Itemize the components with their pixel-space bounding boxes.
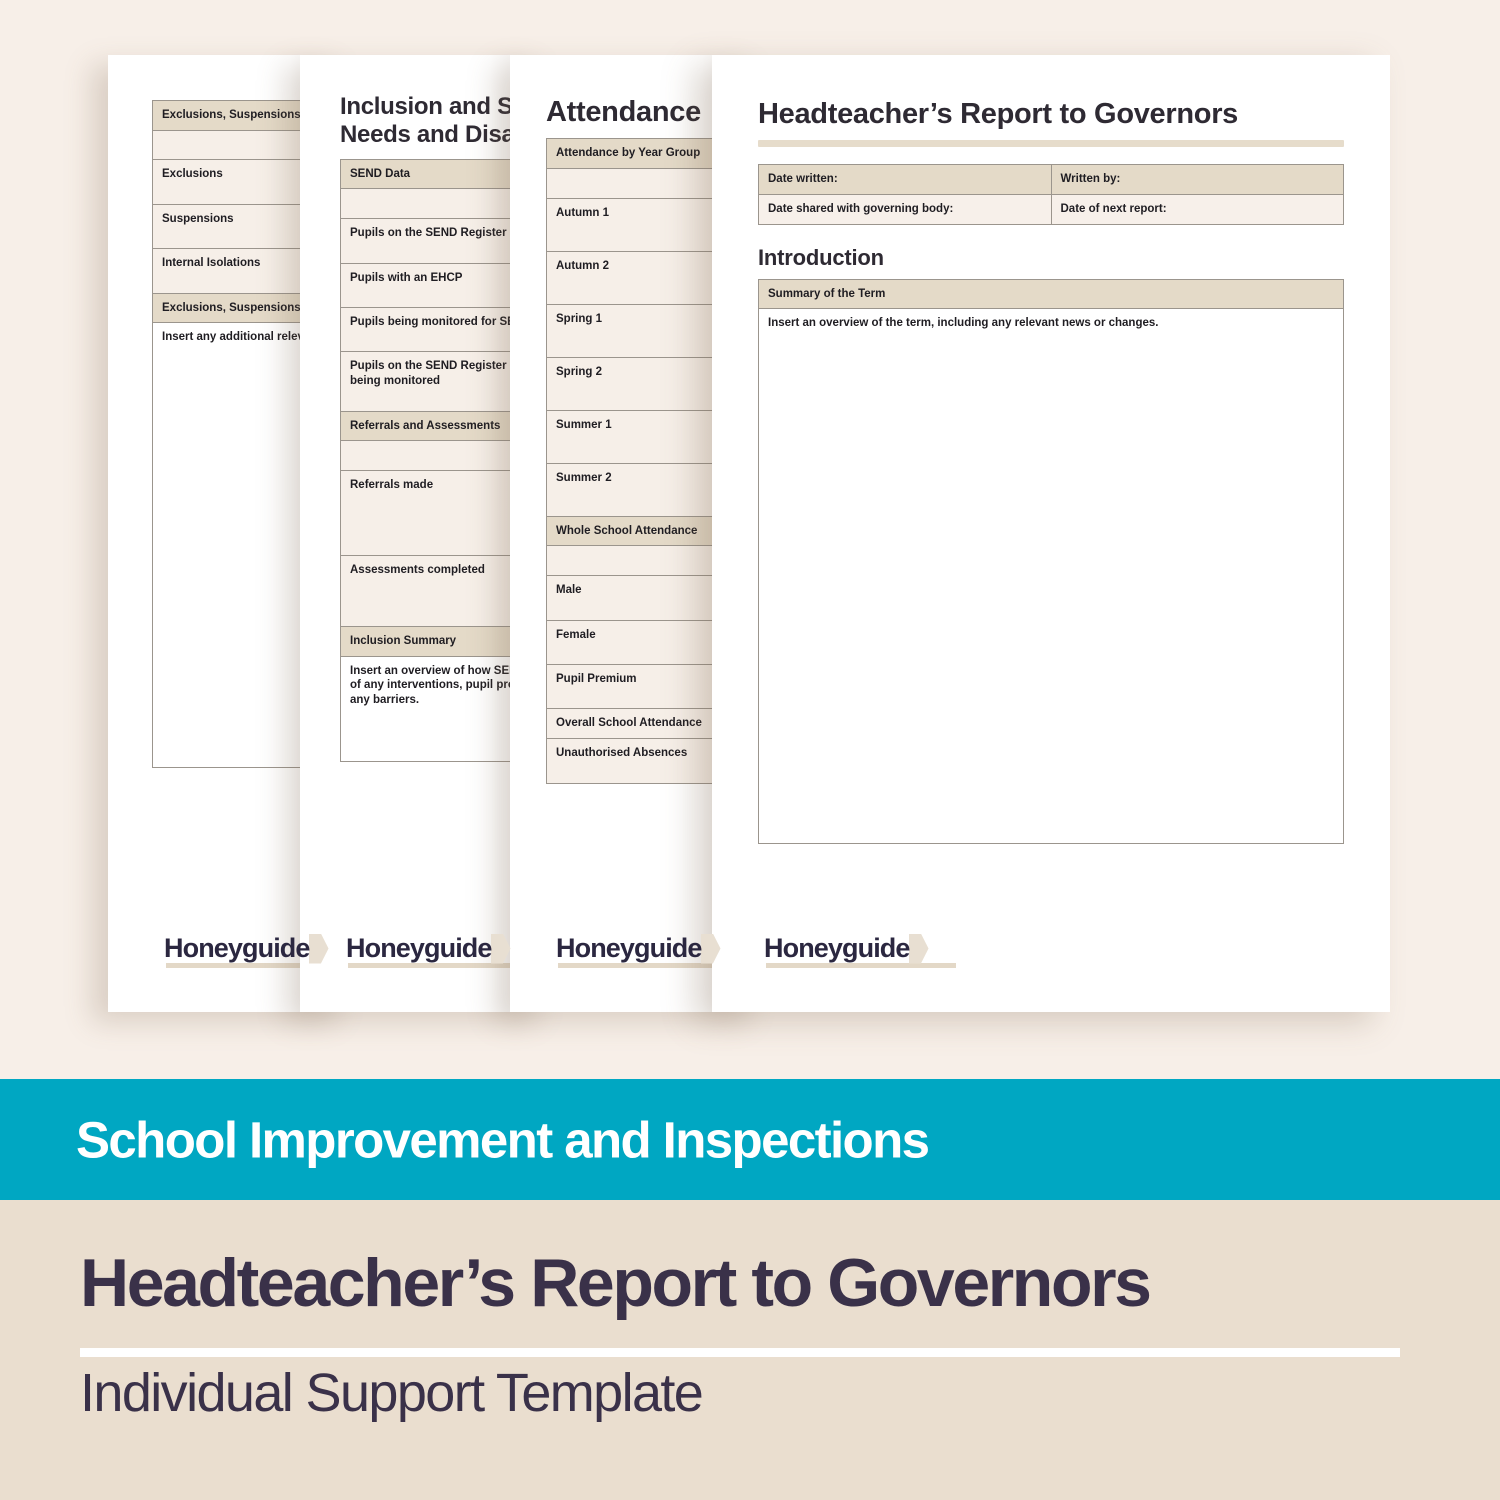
honeyguide-logo: Honeyguide: [556, 933, 721, 964]
chevron-right-icon: [491, 934, 511, 964]
meta-label-written-by[interactable]: Written by:: [1051, 165, 1344, 195]
category-band: School Improvement and Inspections: [0, 1079, 1500, 1200]
meta-label-date-next[interactable]: Date of next report:: [1051, 194, 1344, 224]
logo-wordmark: Honeyguide: [346, 933, 492, 964]
preview-page-cover[interactable]: Headteacher’s Report to Governors Date w…: [712, 55, 1390, 1012]
honeyguide-logo: Honeyguide: [346, 933, 511, 964]
poster-subtitle: Individual Support Template: [80, 1362, 702, 1424]
honeyguide-logo: Honeyguide: [764, 933, 929, 964]
introduction-table: Summary of the Term Insert an overview o…: [758, 279, 1344, 845]
band-heading: Summary of the Term: [759, 279, 1344, 309]
section-heading-introduction: Introduction: [758, 245, 1344, 271]
table-row: Insert an overview of the term, includin…: [759, 309, 1344, 844]
title-accent-rule: [758, 140, 1344, 147]
table-band-row: Summary of the Term: [759, 279, 1344, 309]
chevron-right-icon: [909, 934, 929, 964]
table-row: Date shared with governing body: Date of…: [759, 194, 1344, 224]
footer-panel: Headteacher’s Report to Governors Indivi…: [0, 1200, 1500, 1500]
category-label: School Improvement and Inspections: [76, 1110, 928, 1169]
title-divider: [80, 1348, 1400, 1357]
page-title: Headteacher’s Report to Governors: [758, 97, 1344, 131]
document-previews: Exclusions, Suspensions and Internal Iso…: [0, 0, 1500, 1079]
meta-label-date-shared[interactable]: Date shared with governing body:: [759, 194, 1052, 224]
poster-canvas: Exclusions, Suspensions and Internal Iso…: [0, 0, 1500, 1500]
table-row: Date written: Written by:: [759, 165, 1344, 195]
logo-wordmark: Honeyguide: [556, 933, 702, 964]
logo-wordmark: Honeyguide: [164, 933, 310, 964]
honeyguide-logo: Honeyguide: [164, 933, 329, 964]
poster-title: Headteacher’s Report to Governors: [80, 1244, 1150, 1322]
logo-wordmark: Honeyguide: [764, 933, 910, 964]
meta-label-date-written[interactable]: Date written:: [759, 165, 1052, 195]
report-meta-table: Date written: Written by: Date shared wi…: [758, 164, 1344, 224]
summary-placeholder[interactable]: Insert an overview of the term, includin…: [759, 309, 1344, 844]
